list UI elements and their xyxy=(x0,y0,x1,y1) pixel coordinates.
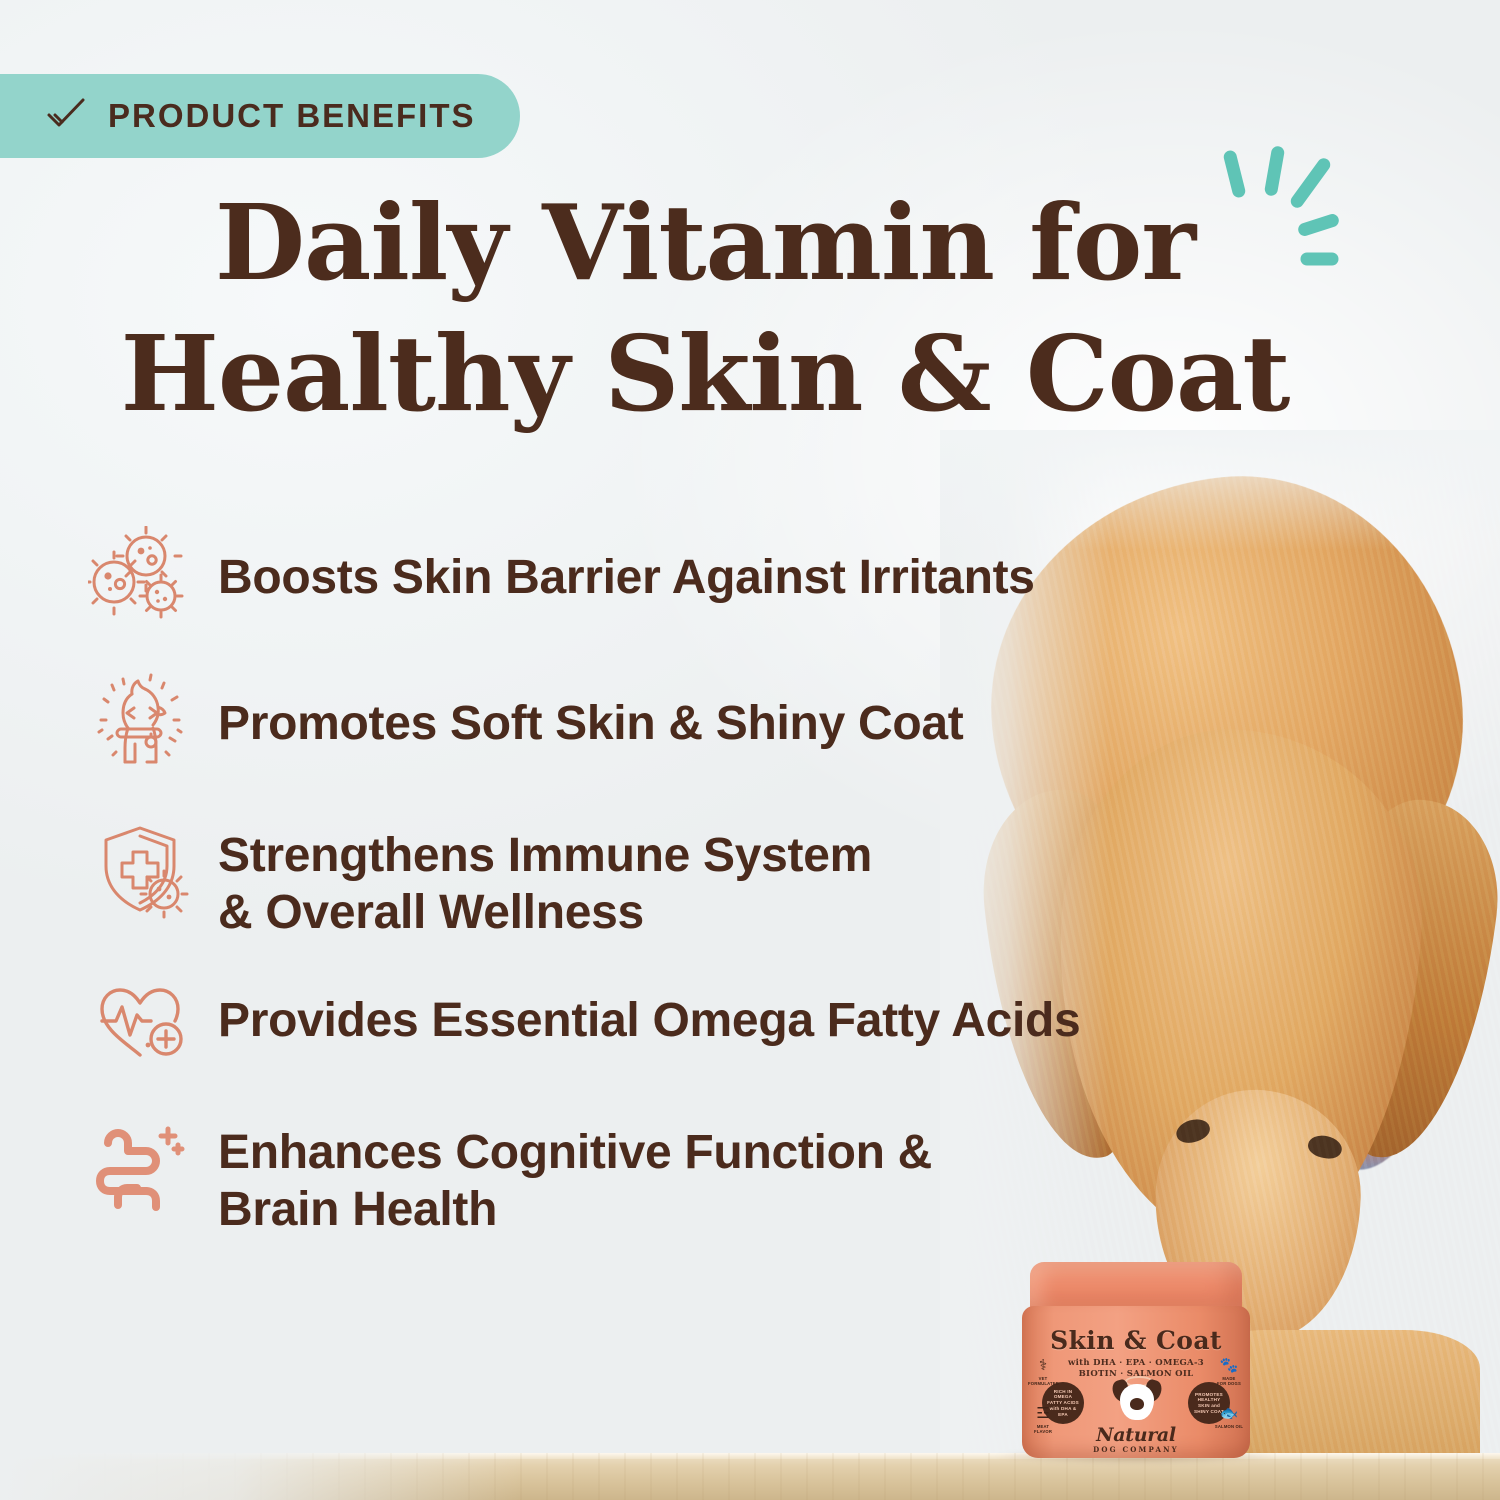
fish-icon: 🐟 SALMON OIL xyxy=(1214,1406,1244,1429)
benefit-text-3: Strengthens Immune System & Overall Well… xyxy=(218,818,872,941)
benefit-text-1: Boosts Skin Barrier Against Irritants xyxy=(218,526,1035,607)
page-title: Daily Vitamin for Healthy Skin & Coat xyxy=(0,182,1410,435)
benefit-item-5: Enhances Cognitive Function & Brain Heal… xyxy=(88,1115,1148,1238)
caduceus-icon: ⚕ VET FORMULATED xyxy=(1028,1358,1058,1386)
heart-pulse-icon xyxy=(88,969,192,1073)
benefits-list: Boosts Skin Barrier Against Irritants xyxy=(88,520,1148,1267)
benefit-item-1: Boosts Skin Barrier Against Irritants xyxy=(88,526,1148,644)
benefit-item-3: Strengthens Immune System & Overall Well… xyxy=(88,818,1148,941)
benefit-item-2: Promotes Soft Skin & Shiny Coat xyxy=(88,672,1148,790)
jar-body: Skin & Coat with DHA · EPA · OMEGA-3 BIO… xyxy=(1022,1306,1250,1458)
infographic-canvas: PRODUCT BENEFITS Daily Vitamin for Healt… xyxy=(0,0,1500,1500)
headline-line-1: Daily Vitamin for xyxy=(0,182,1410,305)
product-benefits-label: PRODUCT BENEFITS xyxy=(108,97,476,135)
bacon-icon: ☲ MEAT FLAVOR xyxy=(1028,1406,1058,1434)
gut-sparkle-icon xyxy=(88,1115,192,1219)
germs-icon xyxy=(88,526,192,630)
paw-icon: 🐾 MADE FOR DOGS xyxy=(1214,1358,1244,1386)
natural-dog-company-logo xyxy=(1114,1378,1160,1428)
jar-title: Skin & Coat xyxy=(1022,1326,1250,1355)
benefit-text-2: Promotes Soft Skin & Shiny Coat xyxy=(218,672,963,753)
floor-left-fade xyxy=(0,1453,520,1500)
check-icon xyxy=(46,97,86,136)
jar-brand-tagline: DOG COMPANY xyxy=(1022,1445,1250,1454)
benefit-text-4: Provides Essential Omega Fatty Acids xyxy=(218,969,1080,1050)
benefit-text-5: Enhances Cognitive Function & Brain Heal… xyxy=(218,1115,932,1238)
jar-lid xyxy=(1030,1262,1242,1312)
benefit-item-4: Provides Essential Omega Fatty Acids xyxy=(88,969,1148,1087)
shiny-dog-icon xyxy=(88,672,192,776)
headline-line-2: Healthy Skin & Coat xyxy=(0,313,1410,436)
shield-immune-icon xyxy=(88,818,192,922)
skin-and-coat-jar[interactable]: Skin & Coat with DHA · EPA · OMEGA-3 BIO… xyxy=(1022,1262,1250,1462)
product-benefits-badge: PRODUCT BENEFITS xyxy=(0,74,520,158)
